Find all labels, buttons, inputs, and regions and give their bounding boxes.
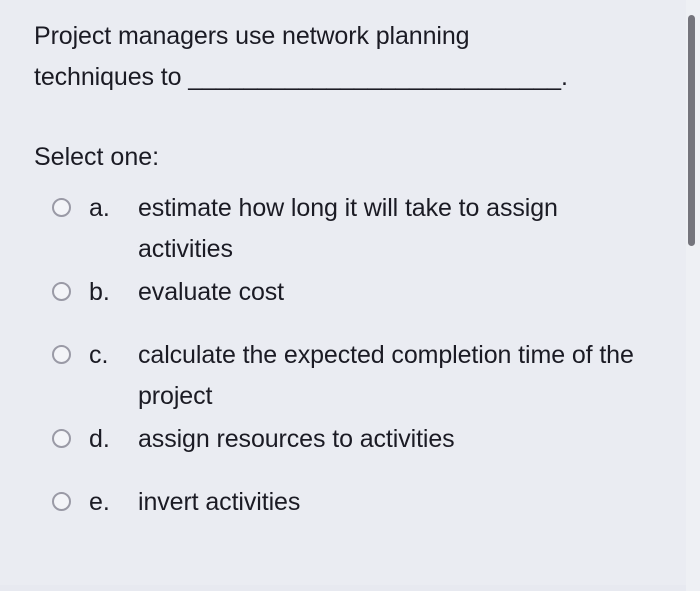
select-one-label: Select one: — [34, 141, 159, 173]
answer-option-a[interactable]: a. estimate how long it will take to ass… — [0, 188, 668, 270]
answer-option-e[interactable]: e. invert activities — [0, 482, 668, 523]
question-stem: Project managers use network planning te… — [34, 16, 634, 98]
option-text-a: estimate how long it will take to assign… — [138, 188, 658, 270]
radio-button-e[interactable] — [52, 492, 71, 511]
option-text-b: evaluate cost — [138, 272, 658, 313]
option-letter-a: a. — [89, 188, 110, 229]
radio-button-c[interactable] — [52, 345, 71, 364]
option-text-e: invert activities — [138, 482, 658, 523]
answer-options-list: a. estimate how long it will take to ass… — [0, 188, 668, 545]
option-text-c: calculate the expected completion time o… — [138, 335, 658, 417]
answer-option-b[interactable]: b. evaluate cost — [0, 272, 668, 313]
radio-button-d[interactable] — [52, 429, 71, 448]
radio-button-a[interactable] — [52, 198, 71, 217]
option-letter-c: c. — [89, 335, 108, 376]
radio-button-b[interactable] — [52, 282, 71, 301]
panel-bottom-edge — [0, 585, 700, 591]
vertical-scrollbar-track[interactable] — [686, 0, 700, 591]
answer-option-d[interactable]: d. assign resources to activities — [0, 419, 668, 460]
vertical-scrollbar-thumb[interactable] — [688, 15, 695, 246]
quiz-question-panel: Project managers use network planning te… — [0, 0, 700, 591]
option-text-d: assign resources to activities — [138, 419, 658, 460]
option-letter-d: d. — [89, 419, 110, 460]
option-letter-b: b. — [89, 272, 110, 313]
answer-option-c[interactable]: c. calculate the expected completion tim… — [0, 335, 668, 417]
option-letter-e: e. — [89, 482, 110, 523]
